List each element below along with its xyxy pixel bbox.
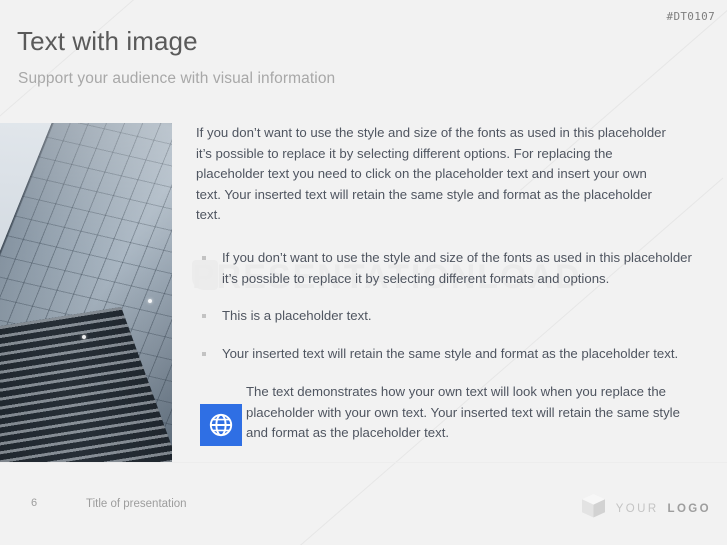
intro-paragraph[interactable]: If you don’t want to use the style and s… — [196, 123, 671, 226]
icon-block-paragraph[interactable]: The text demonstrates how your own text … — [196, 382, 704, 444]
bullet-list: If you don’t want to use the style and s… — [196, 248, 704, 364]
body-text-column: If you don’t want to use the style and s… — [196, 123, 704, 364]
list-item[interactable]: Your inserted text will retain the same … — [196, 344, 692, 365]
logo-word-your: YOUR — [616, 503, 659, 515]
globe-icon[interactable] — [200, 404, 242, 446]
list-item[interactable]: This is a placeholder text. — [196, 306, 692, 327]
footer-divider — [0, 462, 727, 463]
footer-presentation-title[interactable]: Title of presentation — [86, 498, 187, 510]
template-code-id: #DT0107 — [667, 10, 715, 23]
photo-highlight-dot — [148, 299, 152, 303]
image-placeholder-skyscraper[interactable] — [0, 123, 172, 462]
page-number: 6 — [31, 497, 37, 509]
page-title: Text with image — [17, 26, 198, 57]
icon-text-block: The text demonstrates how your own text … — [196, 382, 706, 444]
logo-block[interactable]: YOUR LOGO — [580, 492, 711, 525]
list-item[interactable]: If you don’t want to use the style and s… — [196, 248, 692, 289]
page-subtitle: Support your audience with visual inform… — [18, 70, 335, 88]
slide-canvas: PRESENTATIONLOAD #DT0107 Text with image… — [0, 0, 727, 545]
cube-logo-icon — [580, 492, 607, 525]
photo-highlight-dot — [82, 335, 86, 339]
logo-word-logo: LOGO — [668, 503, 711, 515]
